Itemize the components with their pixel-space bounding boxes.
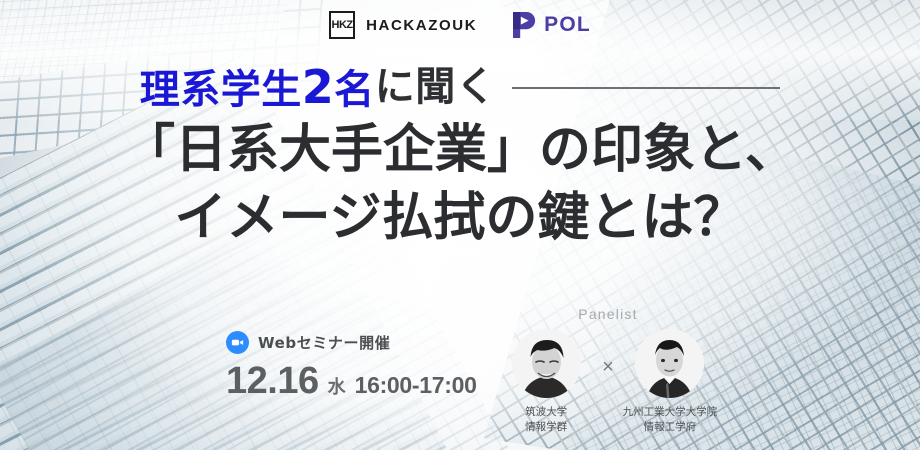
panelist-row: 筑波大学 情報学群 × — [492, 329, 724, 435]
event-day-of-week: 水 — [328, 373, 346, 399]
panelist-block: Panelist — [492, 306, 724, 435]
pol-logo: POL — [511, 11, 591, 39]
panelist-heading: Panelist — [492, 306, 724, 322]
event-time: 16:00-17:00 — [355, 372, 477, 399]
panelist-photo-2 — [635, 329, 704, 398]
video-camera-icon — [226, 331, 249, 354]
webinar-banner: HKZ HACKAZOUK POL 理系学生2名に聞く 「日系 — [0, 0, 920, 450]
panelist-item: 筑波大学 情報学群 — [498, 329, 594, 435]
headline-rule-divider — [512, 87, 780, 89]
panelist-affiliation: 九州工業大学大学院 情報工学府 — [622, 405, 718, 435]
panelist-affiliation: 筑波大学 情報学群 — [498, 405, 594, 435]
event-datetime-row: 12.16 水 16:00-17:00 — [226, 362, 477, 400]
panelist-affiliation-line2: 情報工学府 — [622, 420, 718, 435]
panelist-affiliation-line1: 筑波大学 — [498, 405, 594, 420]
event-date: 12.16 — [226, 362, 319, 400]
event-format-row: Webセミナー開催 — [226, 331, 477, 354]
headline-block: 理系学生2名に聞く 「日系大手企業」の印象と、 イメージ払拭の鍵とは？ — [0, 62, 920, 251]
banner-content: HKZ HACKAZOUK POL 理系学生2名に聞く 「日系 — [0, 0, 920, 450]
panelist-item: 九州工業大学大学院 情報工学府 — [622, 329, 718, 435]
event-info-block: Webセミナー開催 12.16 水 16:00-17:00 — [226, 331, 477, 400]
panelist-affiliation-line2: 情報学群 — [498, 420, 594, 435]
pol-wordmark: POL — [544, 13, 591, 37]
hackazouk-mark-icon: HKZ — [329, 11, 355, 39]
headline-blue-text-b: 名 — [334, 67, 375, 113]
headline-blue-segment: 理系学生2名 — [140, 62, 375, 113]
panelist-affiliation-line1: 九州工業大学大学院 — [622, 405, 718, 420]
headline-line-1: 理系学生2名に聞く — [0, 62, 920, 113]
headline-blue-text-a: 理系学生 — [140, 67, 302, 113]
headline-line-3: イメージ払拭の鍵とは？ — [0, 187, 920, 251]
headline-blue-number: 2 — [302, 60, 335, 114]
logo-bar: HKZ HACKAZOUK POL — [0, 11, 920, 39]
pol-play-mark-icon — [511, 11, 537, 39]
headline-line-2: 「日系大手企業」の印象と、 — [0, 119, 920, 183]
webinar-format-label: Webセミナー開催 — [258, 332, 390, 353]
hackazouk-wordmark: HACKAZOUK — [366, 17, 477, 34]
hackazouk-logo: HKZ HACKAZOUK — [329, 11, 477, 39]
panelist-photo-1 — [512, 329, 581, 398]
headline-dark-segment: に聞く — [375, 65, 497, 109]
panelist-separator-icon: × — [602, 356, 614, 379]
